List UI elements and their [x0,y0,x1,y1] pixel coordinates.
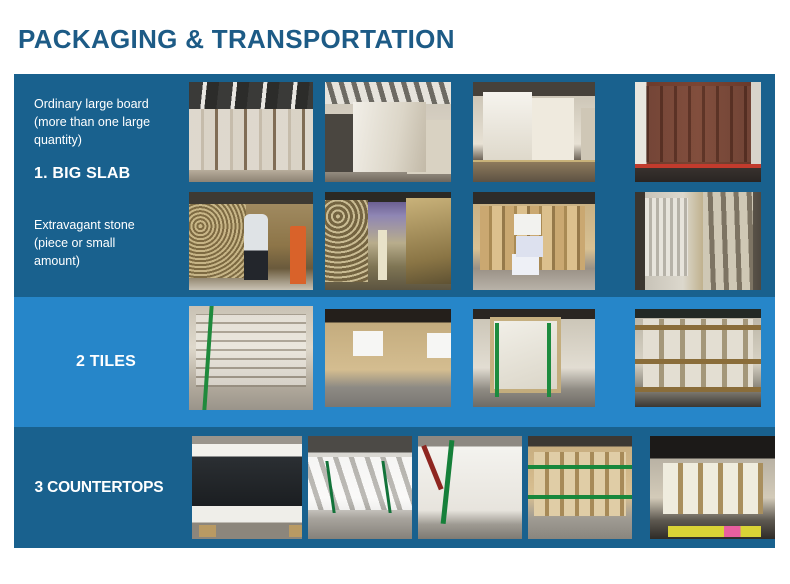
big-slab-photo-row-1 [189,82,761,182]
photo-content [650,436,775,539]
photo-content [418,436,522,539]
photo-content [192,436,302,539]
countertops-heading: 3 COUNTERTOPS [34,479,164,497]
tile-bundle-strapped-photo [189,306,313,410]
photo-content [635,309,761,407]
photo-content [189,306,313,410]
countertops-in-container-photo [650,436,775,539]
dark-countertop-photo [192,436,302,539]
photo-content [473,82,595,182]
photo-content [325,192,451,290]
big-slab-label-column: Ordinary large board (more than one larg… [14,74,176,297]
section-countertops: 3 COUNTERTOPS [14,427,775,548]
slabs-loading-truck-photo [325,82,451,182]
packaging-panel: Ordinary large board (more than one larg… [14,74,775,548]
white-slabs-warehouse-photo [189,82,313,182]
page-title: PACKAGING & TRANSPORTATION [18,24,455,55]
worker-inspecting-granite-photo [189,192,313,290]
slabs-inside-container-photo [473,82,595,182]
wooden-crate-bundles-photo [473,192,595,290]
big-slab-description-bottom: Extravagant stone (piece or small amount… [34,217,164,270]
tiles-photo-row [189,306,761,410]
tiles-heading: 2 TILES [34,353,164,371]
countertops-label-column: 3 COUNTERTOPS [14,427,176,548]
photo-content [325,82,451,182]
big-slab-photo-row-2 [189,192,761,290]
crated-countertops-photo [528,436,632,539]
big-slab-heading: 1. BIG SLAB [34,165,164,183]
wrapped-tile-crate-photo [473,309,595,407]
section-big-slab: Ordinary large board (more than one larg… [14,74,775,297]
wrapped-countertop-bundle-photo [418,436,522,539]
tiles-loaded-container-photo [635,309,761,407]
big-slab-description-top: Ordinary large board (more than one larg… [34,96,164,149]
worker-loading-container-photo [635,192,761,290]
tiles-label-column: 2 TILES [14,297,176,427]
countertops-photo-row [192,436,775,539]
tile-pallet-crate-photo [325,309,451,407]
photo-content [189,192,313,290]
photo-content [189,82,313,182]
grey-marble-countertops-photo [308,436,412,539]
photo-content [325,309,451,407]
photo-content [473,192,595,290]
photo-content [635,82,761,182]
container-rear-doors-photo [635,82,761,182]
photo-content [635,192,761,290]
warehouse-aisle-slabs-photo [325,192,451,290]
section-tiles: 2 TILES [14,297,775,427]
photo-content [473,309,595,407]
photo-content [528,436,632,539]
photo-content [308,436,412,539]
